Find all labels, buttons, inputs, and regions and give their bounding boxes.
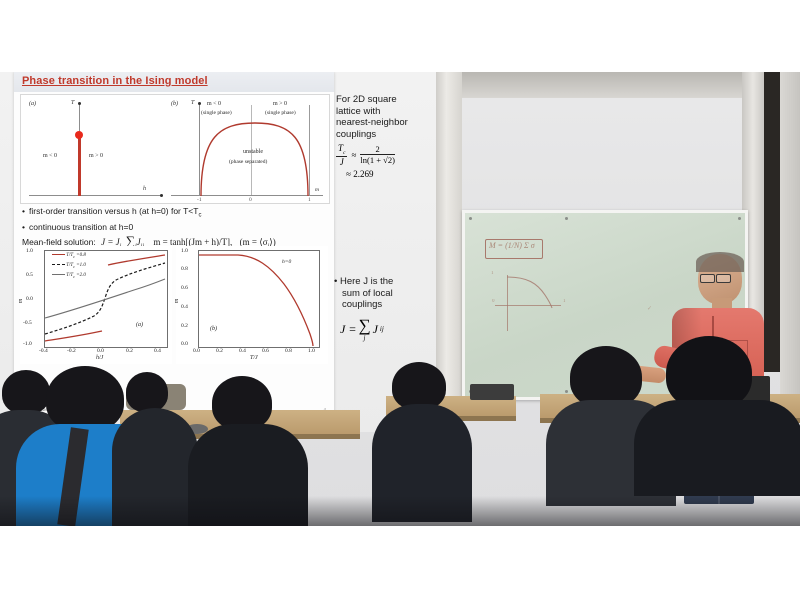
panel-a-xaxis-label: h <box>143 186 146 192</box>
plot-b-ytick: 1.0 <box>181 248 188 254</box>
sum-term: J <box>373 322 378 337</box>
bullet-item: •first-order transition versus h (at h=0… <box>22 206 328 222</box>
bullet-marker: • <box>334 276 337 287</box>
plot-b-panel-label: (b) <box>210 326 217 332</box>
plot-b-ytick: 0.0 <box>181 341 188 347</box>
panel-b-coexistence-dome <box>199 119 311 196</box>
glasses-right-lens <box>716 274 731 283</box>
plot-a: m 1.0 0.5 0.0 -0.5 -1.0 -0.4 -0.2 0.0 0.… <box>20 246 172 364</box>
note-local-couplings: • Here J is the sum of local couplings J… <box>334 276 442 342</box>
tc-over-j-equation: Tc J ≈ 2 ln(1 + √2) <box>336 143 440 167</box>
bullet-text: continuous transition at h=0 <box>29 222 133 232</box>
legend-label-post: =2.0 <box>75 273 86 278</box>
plot-a-legend-entry: T/Tc =2.0 <box>52 273 86 279</box>
legend-swatch-line <box>52 274 65 275</box>
panel-a-axis-cap <box>78 102 81 105</box>
plot-b-annotation: h=0 <box>282 259 291 265</box>
plot-b-xtick: 1.0 <box>308 348 315 354</box>
note-text: Here J is the <box>340 276 393 287</box>
plot-b-xtick: 0.6 <box>262 348 269 354</box>
laptop <box>470 384 514 400</box>
plot-a-ylabel: m <box>18 299 24 303</box>
board-screw <box>738 217 741 220</box>
j-sum-lhs: J = <box>340 322 356 337</box>
student-head <box>126 372 168 412</box>
glasses-left-lens <box>700 274 715 283</box>
eq-rhs-numerator: 2 <box>360 144 394 155</box>
plot-b-ytick: 0.6 <box>181 285 188 291</box>
plot-a-xtick: 0.0 <box>97 348 104 354</box>
student-head <box>46 366 124 432</box>
plot-a-legend-entry: T/Tc =0.8 <box>52 253 86 259</box>
panel-a-region-left: m < 0 <box>43 153 57 159</box>
panel-b-yaxis-label: T <box>191 100 194 106</box>
eq-denominator: J <box>336 157 347 167</box>
board-screw <box>565 217 568 220</box>
panel-b-top-left-sub: (single phase) <box>201 110 232 116</box>
audience-foreground <box>0 366 800 526</box>
plot-a-xtick: 0.2 <box>126 348 133 354</box>
panel-b-xaxis-label: m <box>315 187 319 193</box>
note-line: nearest-neighbor <box>336 117 440 129</box>
board-axis-mark: 1 <box>491 271 494 276</box>
panel-a-label: (a) <box>29 101 36 107</box>
eq-numerator-sub: c <box>343 150 345 156</box>
panel-a-first-order-line <box>78 135 81 196</box>
board-axis-mark: 0 <box>492 299 495 304</box>
panel-b-tick-right: 1 <box>308 197 311 203</box>
panel-b-inside-sub: (phase separated) <box>229 159 267 165</box>
plot-a-legend-entry: T/Tc =1.0 <box>52 263 86 269</box>
tc-approx-value: ≈ 2.269 <box>346 169 440 179</box>
plot-b-ytick: 0.8 <box>181 266 188 272</box>
student-head <box>212 376 272 430</box>
plot-b-xtick: 0.0 <box>193 348 200 354</box>
plot-a-ytick: -0.5 <box>23 320 32 326</box>
panel-a-critical-point <box>75 131 83 139</box>
panel-a-horizontal-axis <box>29 195 161 196</box>
panel-b-top-right: m > 0 <box>273 101 287 107</box>
legend-swatch-line <box>52 264 65 265</box>
right-wall <box>780 72 800 402</box>
sum-index: j <box>358 335 370 342</box>
panel-a-yaxis-label: T <box>71 100 74 106</box>
bullet-text: first-order transition versus h (at h=0)… <box>29 206 198 216</box>
lecturer-hair <box>696 252 744 272</box>
legend-swatch-line <box>52 254 65 255</box>
bullet-marker: • <box>22 222 29 233</box>
panel-b-top-right-sub: (single phase) <box>265 110 296 116</box>
student-shoulders <box>634 400 800 496</box>
plot-b: m 1.0 0.8 0.6 0.4 0.2 0.0 0.0 0.2 0.4 0.… <box>176 246 328 364</box>
lecture-video-frame: Phase transition in the Ising model (a) … <box>0 72 800 526</box>
panel-b-top-left: m < 0 <box>207 101 221 107</box>
j-sum-equation: J = ∑ j Jij <box>340 317 442 342</box>
sum-symbol: ∑ <box>358 316 370 335</box>
letterbox-bottom <box>0 526 800 600</box>
projected-slide: Phase transition in the Ising model (a) … <box>14 72 334 414</box>
panel-b-label: (b) <box>171 101 178 107</box>
student-head <box>392 362 446 410</box>
board-screw <box>469 217 472 220</box>
plot-b-ytick: 0.2 <box>181 323 188 329</box>
note-line: couplings <box>342 299 442 311</box>
note-2d-lattice: For 2D square lattice with nearest-neigh… <box>336 94 440 179</box>
plot-a-xtick: -0.2 <box>67 348 76 354</box>
phase-diagram-figure: (a) T m < 0 m > 0 h (b) T <box>20 94 330 204</box>
plot-a-ytick: -1.0 <box>23 341 32 347</box>
plot-b-xlabel: T/J <box>250 355 258 361</box>
slide-title: Phase transition in the Ising model <box>22 75 208 87</box>
sum-term-sub: ij <box>380 325 384 333</box>
legend-label-post: =1.0 <box>75 263 86 268</box>
board-sketch-curve <box>507 275 561 309</box>
plot-b-ytick: 0.4 <box>181 304 188 310</box>
board-handwriting-equation: M = (1/N) Σ σ <box>489 241 535 250</box>
bullet-marker: • <box>22 206 29 217</box>
plot-a-ytick: 0.5 <box>26 272 33 278</box>
eq-rhs-denominator: ln(1 + √2) <box>360 155 394 165</box>
panel-b-tick-left: -1 <box>197 197 202 203</box>
plot-a-ytick: 0.0 <box>26 296 33 302</box>
panel-b-axis-cap <box>198 102 201 105</box>
panel-b-inside: unstable <box>243 149 263 155</box>
student-head <box>570 346 642 408</box>
plot-a-xtick: -0.4 <box>39 348 48 354</box>
note-line: • Here J is the <box>334 276 442 288</box>
legend-label-post: =0.8 <box>75 253 86 258</box>
plot-a-panel-label: (a) <box>136 322 143 328</box>
plot-a-xtick: 0.4 <box>154 348 161 354</box>
panel-a-axis-arrow <box>160 194 163 197</box>
note-line: For 2D square <box>336 94 440 106</box>
note-line: couplings <box>336 129 440 141</box>
student-head <box>666 336 752 410</box>
letterbox-top <box>0 0 800 72</box>
plot-a-ytick: 1.0 <box>26 248 33 254</box>
plot-b-xtick: 0.8 <box>285 348 292 354</box>
plot-b-xtick: 0.2 <box>216 348 223 354</box>
plot-b-xtick: 0.4 <box>239 348 246 354</box>
note-line: sum of local <box>342 288 442 300</box>
board-axis-mark: 1 <box>563 299 566 304</box>
plot-b-ylabel: m <box>174 299 180 303</box>
note-line: lattice with <box>336 106 440 118</box>
student-head <box>2 370 50 414</box>
board-faint-mark: ✓ <box>647 305 652 312</box>
panel-a-region-right: m > 0 <box>89 153 103 159</box>
bullet-item: •continuous transition at h=0 <box>22 222 328 233</box>
foreground-shadow <box>0 496 800 526</box>
plot-a-xlabel: h/J <box>96 355 103 361</box>
bullet-subscript: c <box>198 213 201 219</box>
panel-b-tick-mid: 0 <box>249 197 252 203</box>
screenshot-root: Phase transition in the Ising model (a) … <box>0 0 800 600</box>
